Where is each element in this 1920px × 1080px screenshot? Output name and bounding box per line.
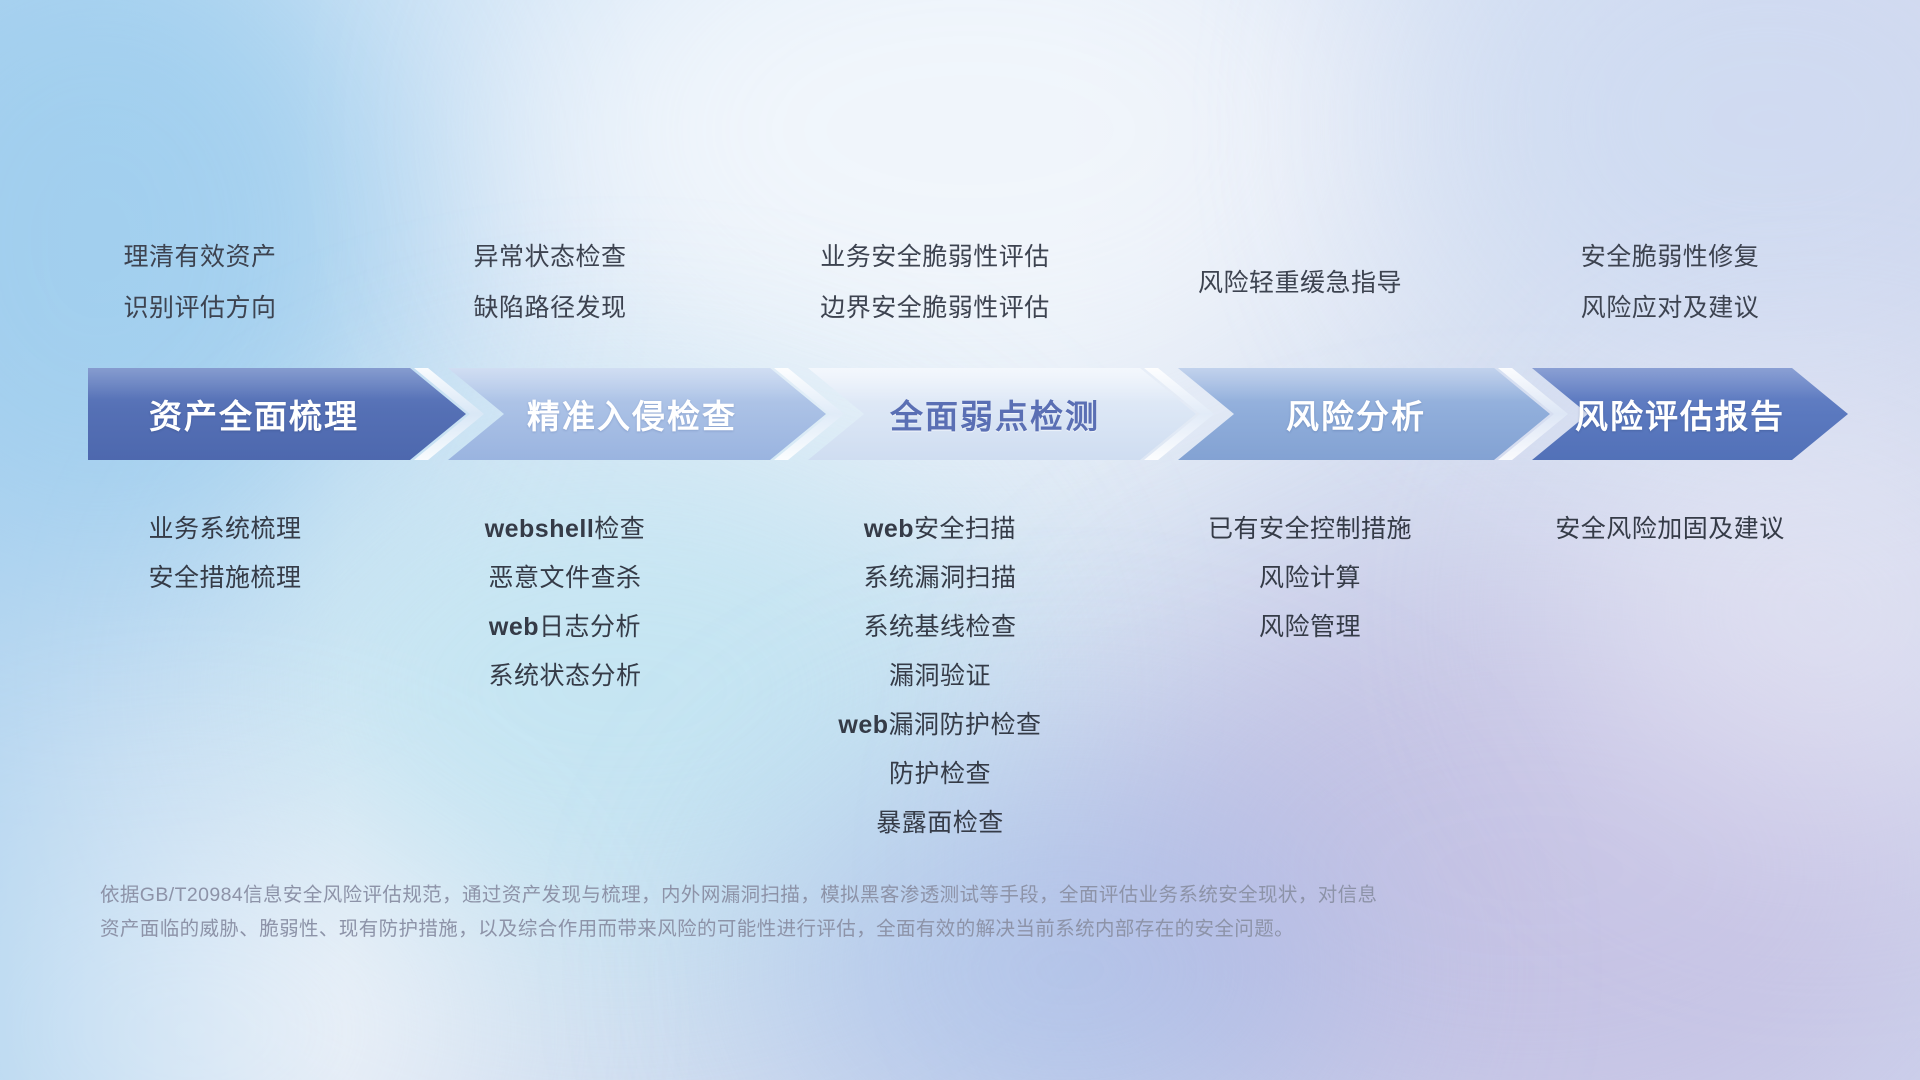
bottom-item: 已有安全控制措施 bbox=[1160, 505, 1460, 554]
top-item: 识别评估方向 bbox=[55, 283, 345, 334]
footer-description: 依据GB/T20984信息安全风险评估规范，通过资产发现与梳理，内外网漏洞扫描，… bbox=[100, 878, 1620, 946]
footer-line-2: 资产面临的威胁、脆弱性、现有防护措施，以及综合作用而带来风险的可能性进行评估，全… bbox=[100, 912, 1620, 946]
top-item: 理清有效资产 bbox=[55, 232, 345, 283]
bottom-items-risk-report: 安全风险加固及建议 bbox=[1510, 505, 1830, 554]
process-diagram: 理清有效资产 识别评估方向 异常状态检查 缺陷路径发现 业务安全脆弱性评估 边界… bbox=[0, 0, 1920, 1080]
top-items-intrusion-check: 异常状态检查 缺陷路径发现 bbox=[405, 232, 695, 334]
bottom-item: web日志分析 bbox=[420, 603, 710, 652]
top-item: 异常状态检查 bbox=[405, 232, 695, 283]
process-step-weakness-detection[interactable]: 全面弱点检测 bbox=[808, 368, 1196, 460]
top-item: 安全脆弱性修复 bbox=[1520, 232, 1820, 283]
bottom-item-rest: 安全扫描 bbox=[914, 515, 1016, 543]
bottom-item: 安全措施梳理 bbox=[80, 554, 370, 603]
bottom-item-rest: 漏洞防护检查 bbox=[889, 711, 1042, 739]
bottom-item: webshell检查 bbox=[420, 505, 710, 554]
process-step-label: 资产全面梳理 bbox=[149, 390, 359, 438]
bottom-item: 系统漏洞扫描 bbox=[790, 554, 1090, 603]
bottom-items-weakness-detection: web安全扫描 系统漏洞扫描 系统基线检查 漏洞验证 web漏洞防护检查 防护检… bbox=[790, 505, 1090, 848]
bottom-item-rest: 检查 bbox=[594, 515, 645, 543]
bottom-item: 风险管理 bbox=[1160, 603, 1460, 652]
process-step-asset-inventory[interactable]: 资产全面梳理 bbox=[88, 368, 466, 460]
process-step-risk-analysis[interactable]: 风险分析 bbox=[1178, 368, 1550, 460]
bottom-item-rest: 日志分析 bbox=[539, 613, 641, 641]
bottom-item: 系统状态分析 bbox=[420, 652, 710, 701]
process-arrow-band: 资产全面梳理 精准入侵检查 全面弱点检测 风险 bbox=[88, 368, 1848, 460]
bottom-item: 系统基线检查 bbox=[790, 603, 1090, 652]
top-item: 缺陷路径发现 bbox=[405, 283, 695, 334]
bottom-items-risk-analysis: 已有安全控制措施 风险计算 风险管理 bbox=[1160, 505, 1460, 652]
top-items-risk-analysis: 风险轻重缓急指导 bbox=[1150, 258, 1450, 309]
process-step-risk-report[interactable]: 风险评估报告 bbox=[1532, 368, 1848, 460]
bottom-item-bold-prefix: web bbox=[489, 613, 539, 641]
bottom-items-asset-inventory: 业务系统梳理 安全措施梳理 bbox=[80, 505, 370, 603]
bottom-item: 业务系统梳理 bbox=[80, 505, 370, 554]
bottom-item: 安全风险加固及建议 bbox=[1510, 505, 1830, 554]
top-items-asset-inventory: 理清有效资产 识别评估方向 bbox=[55, 232, 345, 334]
process-step-label: 精准入侵检查 bbox=[527, 390, 737, 438]
process-step-label: 风险评估报告 bbox=[1575, 390, 1785, 438]
bottom-item-bold-prefix: web bbox=[864, 515, 914, 543]
bottom-item-bold-prefix: webshell bbox=[485, 515, 595, 543]
top-items-weakness-detection: 业务安全脆弱性评估 边界安全脆弱性评估 bbox=[770, 232, 1100, 334]
bottom-items-intrusion-check: webshell检查 恶意文件查杀 web日志分析 系统状态分析 bbox=[420, 505, 710, 701]
top-item: 边界安全脆弱性评估 bbox=[770, 283, 1100, 334]
bottom-item: web漏洞防护检查 bbox=[790, 701, 1090, 750]
top-item: 风险应对及建议 bbox=[1520, 283, 1820, 334]
bottom-item: 恶意文件查杀 bbox=[420, 554, 710, 603]
bottom-item: web安全扫描 bbox=[790, 505, 1090, 554]
process-step-label: 全面弱点检测 bbox=[890, 390, 1100, 438]
bottom-item-bold-prefix: web bbox=[838, 711, 888, 739]
footer-line-1: 依据GB/T20984信息安全风险评估规范，通过资产发现与梳理，内外网漏洞扫描，… bbox=[100, 878, 1620, 912]
bottom-item: 漏洞验证 bbox=[790, 652, 1090, 701]
top-items-risk-report: 安全脆弱性修复 风险应对及建议 bbox=[1520, 232, 1820, 334]
bottom-item: 风险计算 bbox=[1160, 554, 1460, 603]
top-item: 风险轻重缓急指导 bbox=[1150, 258, 1450, 309]
bottom-item: 防护检查 bbox=[790, 750, 1090, 799]
bottom-item: 暴露面检查 bbox=[790, 799, 1090, 848]
top-item: 业务安全脆弱性评估 bbox=[770, 232, 1100, 283]
process-step-intrusion-check[interactable]: 精准入侵检查 bbox=[448, 368, 826, 460]
process-step-label: 风险分析 bbox=[1286, 390, 1426, 438]
